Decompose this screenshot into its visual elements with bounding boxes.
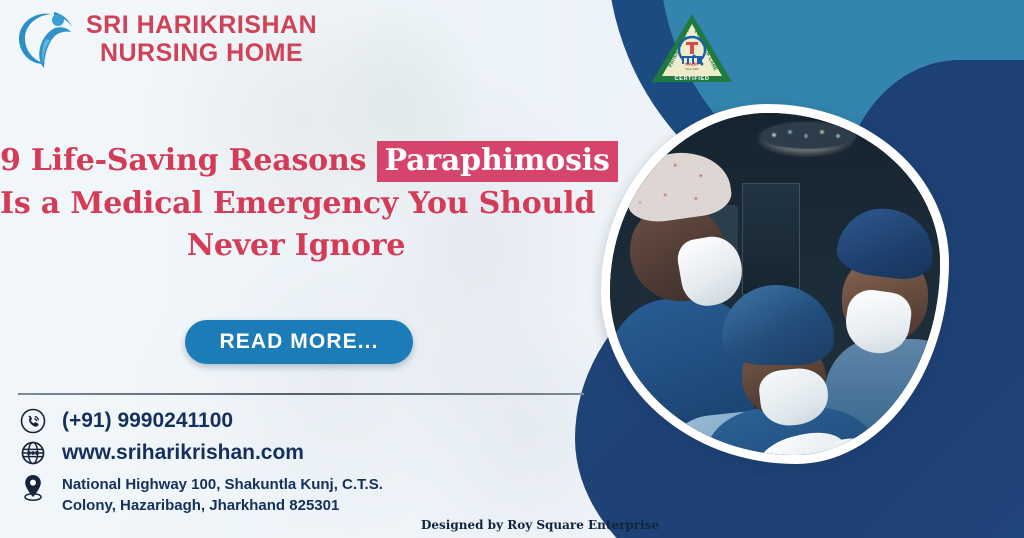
page-title: 9 Life-Saving Reasons Paraphimosis Is a … <box>0 140 592 268</box>
headline-line-3: Never Ignore <box>0 225 592 268</box>
read-more-button[interactable]: READ MORE... <box>185 320 413 364</box>
contact-row-phone[interactable]: (+91) 9990241100 <box>18 408 578 434</box>
contact-row-address[interactable]: National Highway 100, Shakuntla Kunj, C.… <box>18 472 578 517</box>
headline-highlight-term: Paraphimosis <box>377 141 618 182</box>
surgical-light-icon <box>760 123 856 149</box>
promo-banner: SRI HARIKRISHAN NURSING HOME PATIENT SAF… <box>0 0 1024 538</box>
designer-credit: Designed by Roy Square Enterprise <box>421 518 659 532</box>
svg-text:CERTIFIED: CERTIFIED <box>675 76 710 82</box>
headline-prefix: 9 Life-Saving Reasons <box>0 143 366 178</box>
nabh-certified-triangle-icon: PATIENT SAFETY & QUALITY OF CARE NABH Si… <box>650 12 734 84</box>
contact-address-line-2: Colony, Hazaribagh, Jharkhand 825301 <box>62 495 383 516</box>
globe-icon <box>18 440 48 466</box>
brand-name-line-1: SRI HARIKRISHAN <box>86 11 317 39</box>
phone-circle-icon <box>18 408 48 434</box>
contact-address-value: National Highway 100, Shakuntla Kunj, C.… <box>62 472 383 517</box>
contact-block: (+91) 9990241100 www.sriharikrishan.com <box>18 408 578 517</box>
svg-text:Since 2005: Since 2005 <box>686 67 700 71</box>
contact-address-line-1: National Highway 100, Shakuntla Kunj, C.… <box>62 474 383 495</box>
headline-line-2: Is a Medical Emergency You Should <box>0 183 592 226</box>
person-circle-swoosh-logo-icon <box>14 6 78 72</box>
or-doorway <box>742 183 800 295</box>
contact-website-value: www.sriharikrishan.com <box>62 441 304 465</box>
brand-text: SRI HARIKRISHAN NURSING HOME <box>86 11 317 67</box>
location-pin-icon <box>18 472 48 502</box>
contact-phone-value: (+91) 9990241100 <box>62 409 233 433</box>
photo-inner-frame <box>610 113 940 455</box>
contact-row-website[interactable]: www.sriharikrishan.com <box>18 440 578 466</box>
brand-lockup: SRI HARIKRISHAN NURSING HOME <box>14 6 317 72</box>
headline-line-1: 9 Life-Saving Reasons Paraphimosis <box>0 140 592 183</box>
divider <box>18 393 584 395</box>
svg-text:NABH: NABH <box>685 62 699 67</box>
surgical-team-photo <box>601 104 949 464</box>
brand-name-line-2: NURSING HOME <box>86 39 317 67</box>
